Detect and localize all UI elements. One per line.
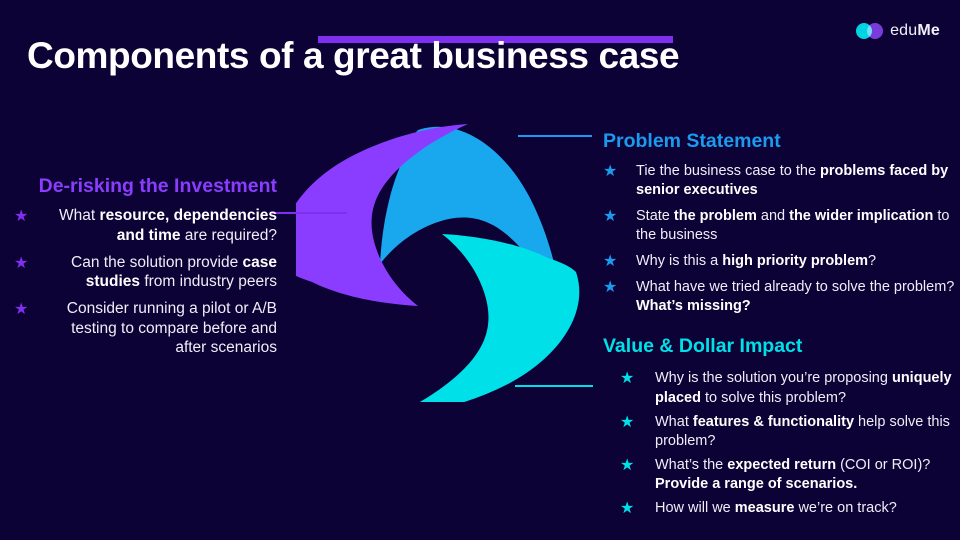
connector-line-value <box>515 385 593 387</box>
star-icon: ★ <box>603 278 617 299</box>
logo-circles-icon <box>856 23 883 39</box>
triskelion-graphic <box>296 122 586 402</box>
connector-line-derisk <box>271 212 347 214</box>
list-item: ★Can the solution provide case studies f… <box>0 253 277 292</box>
star-icon: ★ <box>603 162 617 183</box>
section-problem-statement: Problem Statement ★Tie the business case… <box>603 131 960 322</box>
list-item: ★What features & functionality help solv… <box>603 413 960 451</box>
list-item: ★How will we measure we’re on track? <box>603 499 960 518</box>
list-item: ★What’s the expected return (COI or ROI)… <box>603 456 960 494</box>
list-item-text: Consider running a pilot or A/B testing … <box>67 300 277 356</box>
star-icon: ★ <box>620 456 634 477</box>
logo-word-edu: edu <box>890 22 917 39</box>
list-item-text: Why is the solution you’re proposing uni… <box>655 369 960 407</box>
bullet-list-problem: ★Tie the business case to the problems f… <box>603 162 960 315</box>
star-icon: ★ <box>14 254 28 274</box>
bullet-list-value: ★Why is the solution you’re proposing un… <box>603 369 960 518</box>
page-title: Components of a great business case <box>27 36 679 77</box>
list-item-text: Why is this a high priority problem? <box>636 252 960 271</box>
star-icon: ★ <box>603 252 617 273</box>
list-item: ★What have we tried already to solve the… <box>603 278 960 316</box>
list-item: ★Tie the business case to the problems f… <box>603 162 960 200</box>
star-icon: ★ <box>603 207 617 228</box>
star-icon: ★ <box>14 300 28 320</box>
list-item: ★Why is this a high priority problem? <box>603 252 960 271</box>
list-item-text: Tie the business case to the problems fa… <box>636 162 960 200</box>
bullet-list-derisk: ★What resource, dependencies and time ar… <box>0 206 277 358</box>
list-item-text: Can the solution provide case studies fr… <box>71 254 277 291</box>
star-icon: ★ <box>620 369 634 390</box>
triskelion-svg <box>296 122 586 402</box>
list-item-text: What features & functionality help solve… <box>655 413 960 451</box>
list-item-text: What have we tried already to solve the … <box>636 278 960 316</box>
petal-right-path <box>392 234 579 402</box>
section-heading-derisk: De-risking the Investment <box>0 176 277 197</box>
edume-logo: eduMe <box>856 22 940 40</box>
logo-wordmark: eduMe <box>890 22 940 40</box>
star-icon: ★ <box>14 207 28 227</box>
list-item: ★Why is the solution you’re proposing un… <box>603 369 960 407</box>
section-de-risking-the-investment: De-risking the Investment ★What resource… <box>0 176 277 365</box>
section-heading-problem: Problem Statement <box>603 131 960 152</box>
list-item-text: What’s the expected return (COI or ROI)?… <box>655 456 960 494</box>
list-item: ★What resource, dependencies and time ar… <box>0 206 277 245</box>
petal-right <box>392 234 579 402</box>
list-item-text: What resource, dependencies and time are… <box>59 207 277 244</box>
star-icon: ★ <box>620 499 634 520</box>
logo-circle-right-icon <box>867 23 883 39</box>
list-item: ★State the problem and the wider implica… <box>603 207 960 245</box>
section-value-and-dollar-impact: Value & Dollar Impact ★Why is the soluti… <box>603 336 960 523</box>
list-item-text: How will we measure we’re on track? <box>655 499 960 518</box>
logo-word-me: Me <box>917 22 940 39</box>
list-item-text: State the problem and the wider implicat… <box>636 207 960 245</box>
list-item: ★Consider running a pilot or A/B testing… <box>0 299 277 358</box>
section-heading-value: Value & Dollar Impact <box>603 336 960 357</box>
connector-line-problem <box>518 135 592 137</box>
star-icon: ★ <box>620 413 634 434</box>
title-container: Components of a great business case <box>27 36 679 77</box>
